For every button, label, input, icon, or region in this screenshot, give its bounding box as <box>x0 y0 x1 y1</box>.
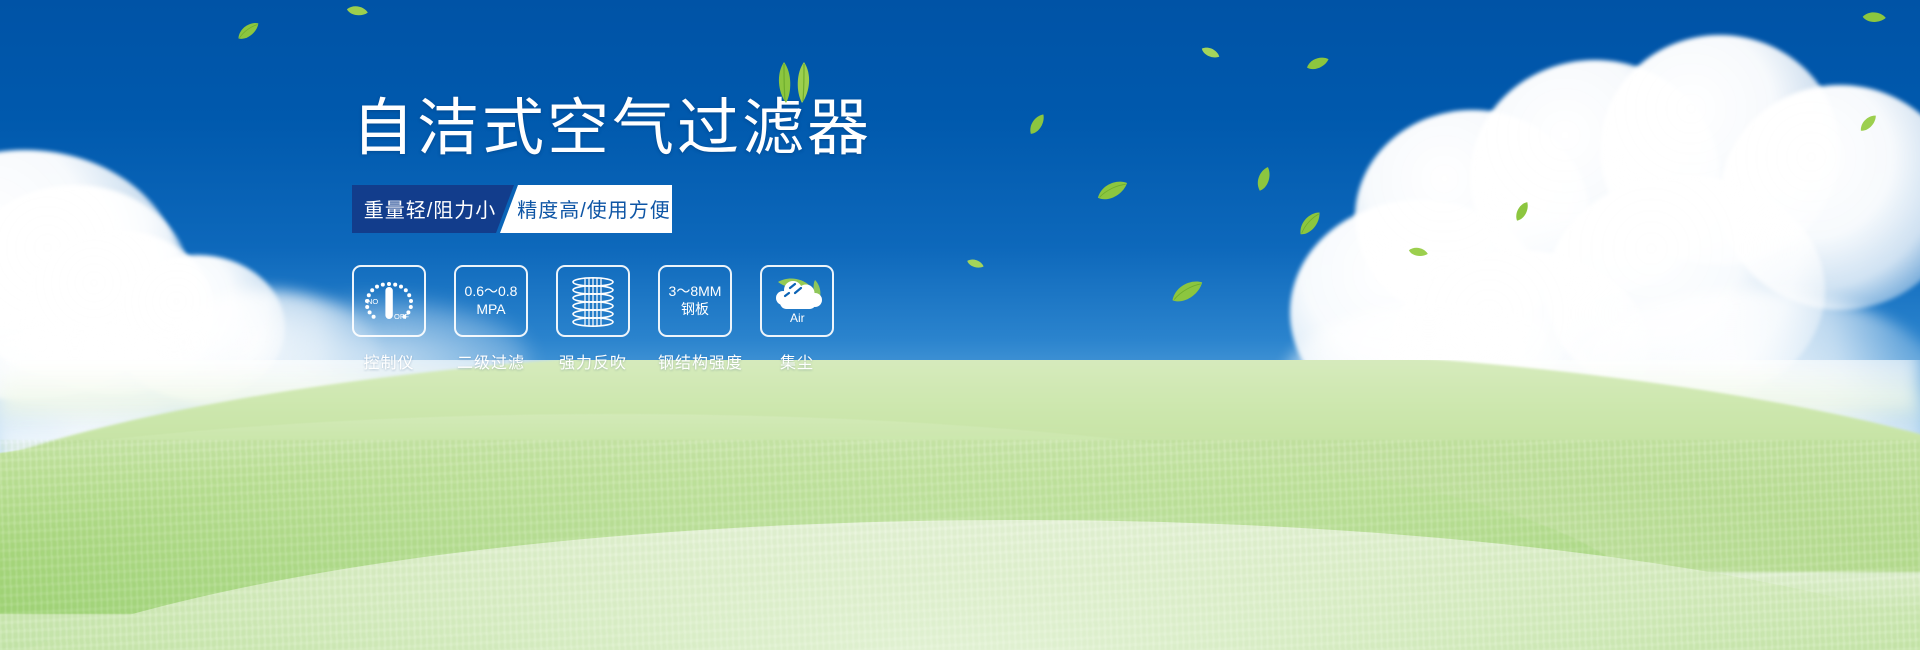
pressure-text-icon: 0.6～0.8 MPA <box>465 283 518 318</box>
feature-label-controller: 控制仪 <box>352 349 426 373</box>
green-leaf <box>1855 111 1882 137</box>
air-cloud-icon: Air <box>768 274 826 328</box>
cumulus-cloud <box>1600 35 1840 265</box>
page-title-row: 自洁式空气过滤器 <box>352 96 872 163</box>
cumulus-cloud <box>1720 85 1920 310</box>
green-leaf <box>344 1 370 23</box>
hero-banner: 自洁式空气过滤器 重量轻/阻力小 精度高/使用方便 <box>0 0 1920 650</box>
green-leaf <box>1860 8 1887 30</box>
feature-item-steel-strength[interactable]: 3～8MM 钢板 钢结构强度 <box>658 265 732 373</box>
feature-label-steel-strength: 钢结构强度 <box>658 349 732 373</box>
feature-box-steel: 3～8MM 钢板 <box>658 265 732 337</box>
badge-lightweight-lowresistance[interactable]: 重量轻/阻力小 <box>352 185 514 233</box>
grass-glow <box>0 400 1920 650</box>
feature-label-secondary-filtration: 二级过滤 <box>454 349 528 373</box>
cumulus-cloud <box>1355 110 1590 325</box>
feature-item-strong-blowback[interactable]: 强力反吹 <box>556 265 630 373</box>
feature-label-strong-blowback: 强力反吹 <box>556 349 630 373</box>
badge-precision-easyuse[interactable]: 精度高/使用方便 <box>500 185 672 233</box>
feature-box-pressure: 0.6～0.8 MPA <box>454 265 528 337</box>
feature-box-coil <box>556 265 630 337</box>
air-label: Air <box>790 311 805 325</box>
coil-filter-icon <box>566 273 620 329</box>
page-title: 自洁式空气过滤器 <box>352 96 872 163</box>
gauge-label-no: NO <box>367 297 378 306</box>
feature-label-dust-collection: 集尘 <box>760 349 834 373</box>
cumulus-cloud <box>0 185 190 380</box>
feature-box-air: Air <box>760 265 834 337</box>
title-leaf-pair <box>764 60 822 104</box>
steel-plate-text-icon: 3～8MM 钢板 <box>669 283 722 318</box>
green-leaf <box>233 17 265 47</box>
grass-hill <box>0 360 1920 650</box>
gauge-label-off: OFF <box>394 312 409 321</box>
green-leaf <box>1198 42 1223 66</box>
green-leaf <box>1406 243 1430 263</box>
green-leaf <box>1510 198 1536 225</box>
cumulus-cloud <box>1470 60 1720 295</box>
feature-item-secondary-filtration[interactable]: 0.6～0.8 MPA 二级过滤 <box>454 265 528 373</box>
feature-list: NO OFF 控制仪 0.6～0.8 MPA 二级过滤 <box>352 265 1112 373</box>
green-leaf <box>1304 54 1331 76</box>
green-leaf <box>1166 274 1209 312</box>
tagline-badges: 重量轻/阻力小 精度高/使用方便 <box>352 185 672 233</box>
feature-box-controller: NO OFF <box>352 265 426 337</box>
banner-content: 自洁式空气过滤器 重量轻/阻力小 精度高/使用方便 <box>352 96 1112 373</box>
green-leaf <box>1251 164 1280 196</box>
feature-item-dust-collection[interactable]: Air 集尘 <box>760 265 834 373</box>
feature-item-controller[interactable]: NO OFF 控制仪 <box>352 265 426 373</box>
green-leaf <box>1293 207 1329 242</box>
gauge-icon: NO OFF <box>361 274 417 328</box>
